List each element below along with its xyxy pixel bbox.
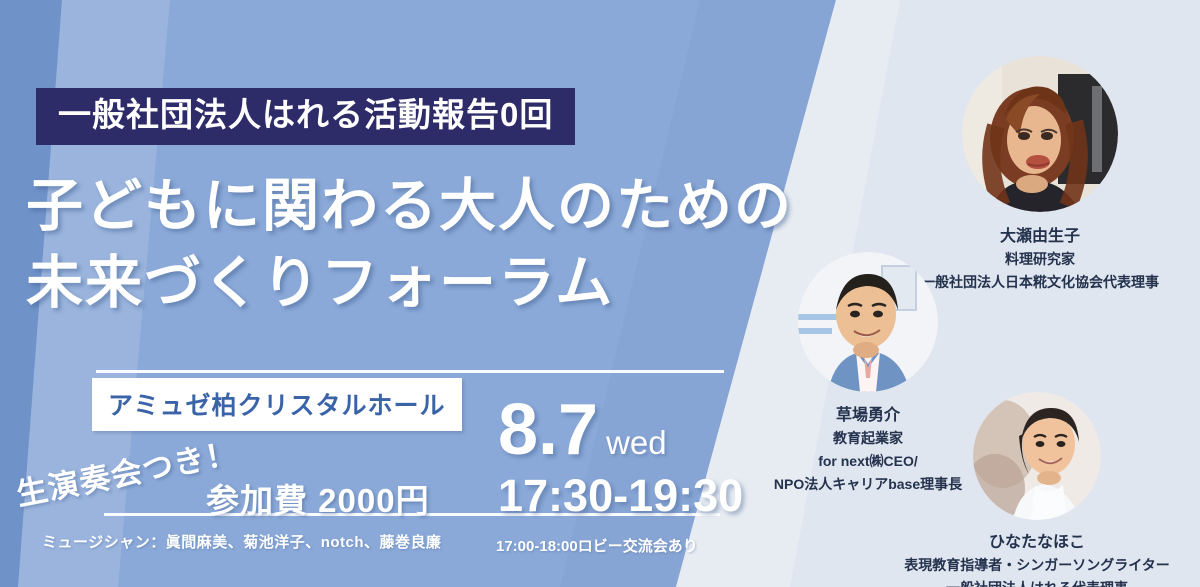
event-date: 8.7 <box>498 396 598 464</box>
date-row: 8.7 wed <box>498 396 743 464</box>
event-banner: 一般社団法人はれる活動報告0回 子どもに関わる大人のための 未来づくりフォーラム… <box>0 0 1200 587</box>
musicians-list: ミュージシャン：眞間麻美、菊池洋子、notch、藤巻良廉 <box>42 531 442 552</box>
speaker-card-3: ひなたなほこ 表現教育指導者・シンガーソングライター 一般社団法人はれる代表理事 <box>872 392 1200 587</box>
speaker-3-portrait-photo <box>973 392 1101 520</box>
divider-top <box>96 370 724 373</box>
speaker-3-role: 表現教育指導者・シンガーソングライター <box>872 555 1200 575</box>
speaker-1-portrait-photo <box>962 56 1118 212</box>
report-badge: 一般社団法人はれる活動報告0回 <box>36 88 575 145</box>
event-time: 17:30-19:30 <box>498 470 743 522</box>
lobby-note: 17:00-18:00ロビー交流会あり <box>496 535 698 556</box>
speaker-3-affiliation: 一般社団法人はれる代表理事 <box>872 578 1200 587</box>
participation-fee: 参加費 2000円 <box>206 474 430 522</box>
venue-label: アミュゼ柏クリスタルホール <box>92 378 462 431</box>
title-line-2: 未来づくりフォーラム <box>26 245 793 322</box>
speaker-3-name: ひなたなほこ <box>872 528 1200 552</box>
page-title: 子どもに関わる大人のための 未来づくりフォーラム <box>26 168 793 322</box>
event-day-of-week: wed <box>606 424 667 462</box>
date-time-block: 8.7 wed 17:30-19:30 <box>498 396 743 522</box>
speaker-2-portrait-photo <box>798 252 938 392</box>
speaker-1-name: 大瀬由生子 <box>875 222 1200 246</box>
title-line-1: 子どもに関わる大人のための <box>26 168 793 245</box>
